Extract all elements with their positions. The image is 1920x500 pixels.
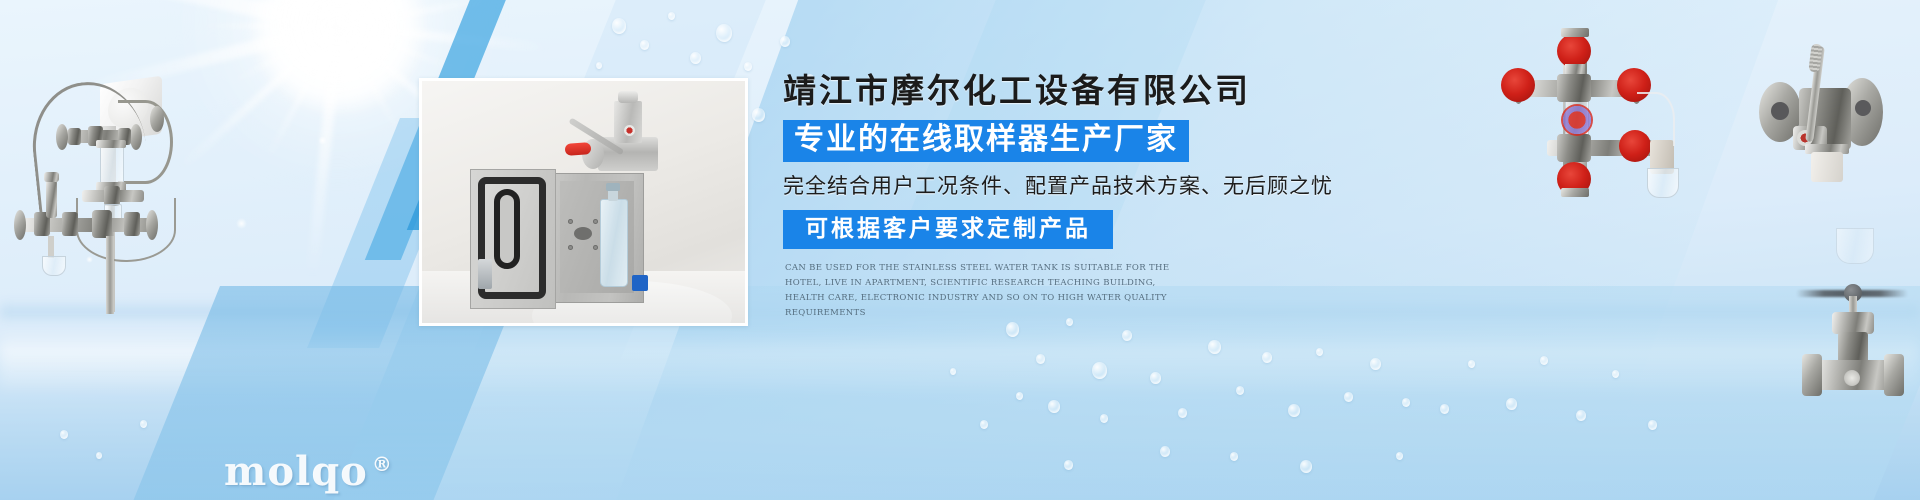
- top-valve-knob: [618, 91, 638, 103]
- blue-cap: [632, 275, 648, 291]
- flange-icon: [150, 106, 164, 132]
- sun-ray: [306, 25, 343, 275]
- water-droplet-icon: [1300, 460, 1312, 473]
- water-droplet-icon: [1048, 400, 1060, 413]
- cabinet-door-latch[interactable]: [478, 259, 492, 289]
- sun-ray: [218, 0, 345, 29]
- sun-ray: [337, 0, 496, 29]
- lens-flare-dot: [236, 218, 247, 229]
- sun-ray: [269, 0, 339, 27]
- water-droplet-icon: [780, 36, 790, 47]
- water-droplet-icon: [716, 24, 732, 42]
- red-lever-grip: [565, 142, 592, 156]
- relief-valve: [46, 180, 57, 218]
- valve-body: [62, 212, 78, 236]
- bonnet: [1832, 312, 1874, 334]
- valve-body: [92, 210, 112, 238]
- collection-vessel: [1647, 168, 1679, 198]
- water-droplet-icon: [1208, 340, 1221, 354]
- sun-ray: [336, 0, 348, 26]
- water-droplet-icon: [140, 420, 147, 428]
- water-droplet-icon: [1064, 460, 1073, 470]
- valve-seal-icon: [1844, 370, 1860, 386]
- flange-icon: [14, 210, 26, 240]
- water-droplet-icon: [60, 430, 68, 439]
- water-droplet-icon: [1262, 352, 1272, 363]
- flange-icon: [1884, 354, 1904, 396]
- water-droplet-icon: [1576, 410, 1586, 421]
- sun-ray: [195, 0, 339, 28]
- product-photo: [419, 78, 748, 326]
- valve-body: [68, 128, 81, 145]
- sample-bottle: [600, 199, 628, 287]
- custom-badge-row: 可根据客户要求定制产品: [783, 210, 1403, 249]
- headline-row: 专业的在线取样器生产厂家: [783, 120, 1403, 162]
- valve-body: [1557, 74, 1591, 102]
- water-droplet-icon: [1150, 372, 1161, 384]
- outlet-cup: [1811, 152, 1843, 182]
- sun-ray: [302, 0, 341, 27]
- valve-body: [1557, 134, 1591, 162]
- water-droplet-icon: [1036, 354, 1045, 364]
- sun-core-icon: [248, 0, 428, 116]
- glass-collar: [96, 140, 126, 148]
- flange-bore: [1771, 102, 1789, 120]
- water-droplet-icon: [640, 40, 649, 50]
- water-droplet-icon: [1402, 398, 1410, 407]
- registered-mark-icon: ®: [372, 452, 393, 476]
- cabinet-screw: [593, 219, 598, 224]
- cabinet-door-window: [494, 189, 520, 269]
- water-droplet-icon: [1016, 392, 1023, 400]
- flange-icon: [1561, 188, 1589, 197]
- flange-icon: [1561, 28, 1589, 37]
- company-name: 靖江市摩尔化工设备有限公司: [783, 74, 1403, 107]
- water-droplet-icon: [1612, 370, 1619, 378]
- flange-icon: [1802, 354, 1822, 396]
- sun-ray: [265, 25, 340, 160]
- water-droplet-icon: [1122, 330, 1132, 341]
- sun-ray: [336, 0, 499, 29]
- headline-badge: 专业的在线取样器生产厂家: [783, 120, 1189, 162]
- water-droplet-icon: [690, 52, 701, 64]
- lever-valve-render: [1755, 38, 1905, 218]
- promo-banner: 靖江市摩尔化工设备有限公司 专业的在线取样器生产厂家 完全结合用户工况条件、配置…: [0, 0, 1920, 500]
- custom-badge: 可根据客户要求定制产品: [783, 210, 1113, 249]
- water-droplet-icon: [1396, 452, 1403, 460]
- sun-ray: [336, 25, 400, 131]
- water-droplet-icon: [1178, 408, 1187, 418]
- water-droplet-icon: [752, 108, 765, 122]
- water-droplet-icon: [612, 18, 626, 34]
- lens-flare-dot: [318, 136, 327, 145]
- water-droplet-icon: [1344, 392, 1353, 402]
- cabinet-screw: [593, 245, 598, 250]
- water-droplet-icon: [980, 420, 988, 429]
- sun-ray: [337, 24, 461, 72]
- watermark-logo-text: molqo: [224, 448, 368, 495]
- water-droplet-icon: [1440, 404, 1449, 414]
- sun-ray: [198, 24, 338, 29]
- sun-ray: [337, 0, 448, 28]
- sun-ray: [336, 0, 419, 27]
- sun-ray: [315, 0, 342, 26]
- flange-icon: [146, 210, 158, 240]
- valve-body: [104, 186, 120, 206]
- sun-ray: [179, 23, 340, 169]
- support-mast: [106, 236, 114, 314]
- cabinet-port-hole: [574, 227, 592, 240]
- collection-vessel: [42, 256, 66, 276]
- valve-seal-icon: [624, 125, 635, 136]
- watermark-logo: molqo®: [224, 452, 393, 492]
- water-droplet-icon: [1288, 404, 1300, 417]
- sun-ray: [231, 24, 339, 84]
- water-droplet-icon: [1160, 446, 1170, 457]
- water-droplet-icon: [744, 62, 752, 71]
- flange-icon: [56, 124, 68, 150]
- text-block: 靖江市摩尔化工设备有限公司 专业的在线取样器生产厂家 完全结合用户工况条件、配置…: [783, 74, 1403, 321]
- outlet-tubing: [1637, 92, 1675, 146]
- water-droplet-icon: [1236, 386, 1244, 395]
- left-equipment-render: [0, 20, 200, 310]
- sample-bottle-cap: [606, 183, 620, 191]
- sun-ray: [335, 0, 399, 27]
- cabinet-screw: [568, 219, 573, 224]
- water-droplet-icon: [1506, 398, 1517, 410]
- water-droplet-icon: [96, 452, 102, 459]
- top-valve-stack: [614, 101, 642, 143]
- water-droplet-icon: [1092, 362, 1107, 379]
- certification-seal-icon: [1561, 104, 1593, 136]
- flange-icon: [130, 124, 142, 150]
- sun-ray: [218, 0, 338, 28]
- water-droplet-icon: [1230, 452, 1238, 461]
- flange-bore: [1855, 100, 1871, 116]
- water-droplet-icon: [950, 368, 956, 375]
- drain-stem: [48, 236, 54, 258]
- water-droplet-icon: [1468, 360, 1475, 368]
- water-droplet-icon: [1006, 322, 1019, 337]
- water-droplet-icon: [668, 12, 675, 20]
- subheadline: 完全结合用户工况条件、配置产品技术方案、无后顾之忧: [783, 175, 1403, 198]
- english-paragraph: CAN BE USED FOR THE STAINLESS STEEL WATE…: [785, 261, 1195, 321]
- horizon-band: [0, 330, 1920, 390]
- valve-body: [124, 212, 140, 236]
- collection-vessel: [1836, 228, 1874, 264]
- sun-ray: [338, 22, 548, 53]
- cabinet-screw: [568, 245, 573, 250]
- red-handwheel[interactable]: [1501, 68, 1535, 102]
- cross-valve-manifold-render: [1495, 28, 1735, 198]
- water-droplet-icon: [1540, 356, 1548, 365]
- bottom-flanged-valve-render: [1790, 228, 1920, 408]
- red-handwheel[interactable]: [1557, 34, 1591, 68]
- water-droplet-icon: [1370, 358, 1381, 370]
- water-droplet-icon: [1316, 348, 1323, 356]
- relief-valve-cap: [44, 172, 59, 182]
- valve-stem: [1565, 64, 1585, 74]
- water-droplet-icon: [1648, 420, 1657, 430]
- water-droplet-icon: [596, 62, 602, 69]
- water-droplet-icon: [1100, 414, 1108, 423]
